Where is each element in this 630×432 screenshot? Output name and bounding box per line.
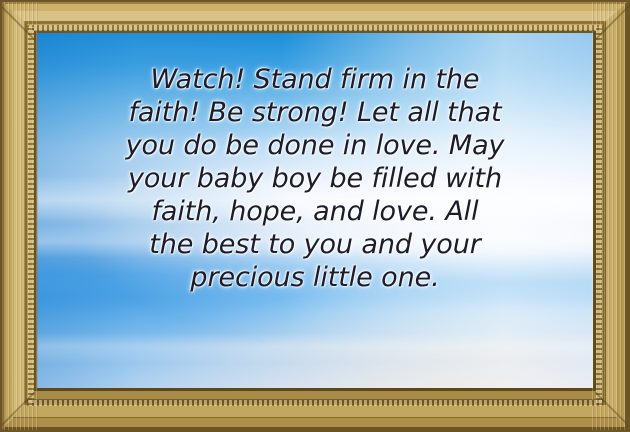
quote-text: Watch! Stand firm in the faith! Be stron…	[37, 63, 593, 294]
frame-beads-top	[27, 25, 603, 31]
greeting-card-image: Watch! Stand firm in the faith! Be stron…	[0, 0, 630, 432]
frame-beads-right	[596, 27, 602, 405]
frame-miter-top-right	[594, 0, 630, 41]
artwork-background: Watch! Stand firm in the faith! Be stron…	[37, 33, 593, 389]
frame-miter-bottom-left	[0, 391, 36, 432]
frame-miter-top-left	[0, 0, 36, 41]
frame-beads-left	[28, 27, 34, 405]
frame-texture-right	[592, 0, 630, 432]
frame-texture-left	[0, 0, 38, 432]
frame-miter-bottom-right	[594, 391, 630, 432]
frame-beads-bottom	[27, 400, 603, 406]
